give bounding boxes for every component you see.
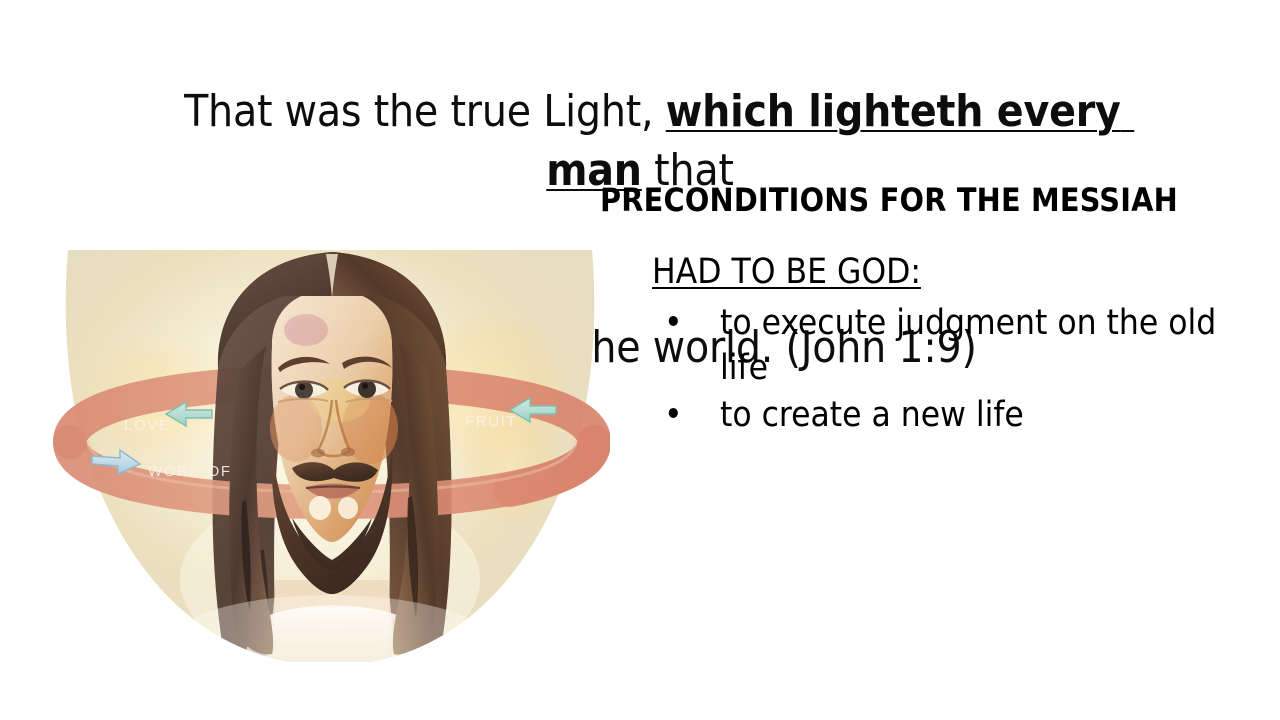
bullet-text: to execute judgment on the old life xyxy=(720,303,1216,388)
jesus-lightbulb-illustration: LOVE WORD OF G FRUIT xyxy=(40,250,610,664)
hair-overlay xyxy=(218,252,446,654)
bullet-marker: • xyxy=(664,301,683,346)
bullet-marker: • xyxy=(664,393,683,438)
ring-label-love: LOVE xyxy=(124,417,170,434)
ring-label-fruit: FRUIT xyxy=(465,413,517,430)
list-item: • to execute judgment on the old life xyxy=(652,301,1260,391)
content-column: PRECONDITIONS FOR THE MESSIAH HAD TO BE … xyxy=(600,182,1260,440)
list-item: • to create a new life xyxy=(652,393,1260,438)
title-line1-part1: That was the true Light, xyxy=(184,86,666,137)
section-heading: PRECONDITIONS FOR THE MESSIAH xyxy=(600,182,1260,219)
subheading: HAD TO BE GOD: xyxy=(652,253,921,292)
bullet-text: to create a new life xyxy=(720,395,1024,435)
bullet-list: • to execute judgment on the old life • … xyxy=(600,301,1260,437)
